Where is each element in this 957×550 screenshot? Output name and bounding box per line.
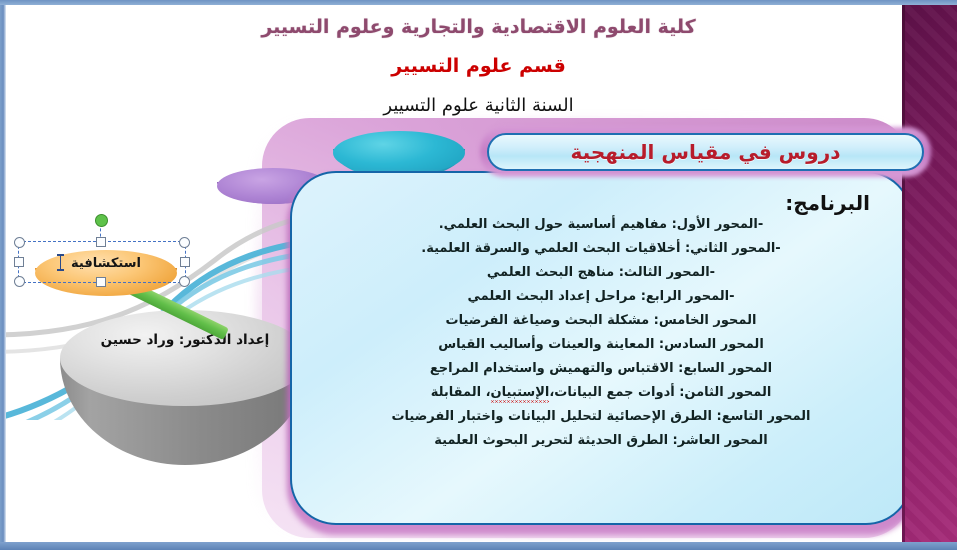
list-item-with-spellcheck: المحور الثامن: أدوات جمع البيانات،الإستب… [318,381,884,405]
list-item: المحور العاشر: الطرق الحديثة لتحرير البح… [318,429,884,453]
selection-handle-icon[interactable] [180,257,190,267]
slide-frame-left [0,0,6,550]
program-list: -المحور الأول: مفاهيم أساسية حول البحث ا… [318,217,884,453]
selection-handle-icon[interactable] [14,257,24,267]
program-title: البرنامج: [318,191,870,215]
author-label: إعداد الدكتور: وراد حسين [60,332,310,348]
grey-cylinder-top [60,310,310,406]
page-title-year: السنة الثانية علوم التسيير [0,95,957,116]
program-content-box: البرنامج: -المحور الأول: مفاهيم أساسية ح… [290,171,912,525]
selection-handle-icon[interactable] [179,276,190,287]
list-item: -المحور الرابع: مراحل إعداد البحث العلمي [318,285,884,309]
list-item: -المحور الأول: مفاهيم أساسية حول البحث ا… [318,217,884,237]
page-title-faculty: كلية العلوم الاقتصادية والتجارية وعلوم ا… [0,16,957,38]
spellcheck-underlined-word: الإستبيان [491,385,550,405]
list-item: -المحور الثاني: أخلاقيات البحث العلمي وا… [318,237,884,261]
title-banner[interactable]: دروس في مقياس المنهجية [487,133,924,171]
rotation-handle-icon[interactable] [95,214,108,227]
title-banner-frame: دروس في مقياس المنهجية [487,133,924,171]
selection-handle-icon[interactable] [96,277,106,287]
list-item-text: المحور الثامن: أدوات جمع البيانات، [549,385,771,400]
slide-frame-bottom [0,542,957,550]
powerpoint-slide: إعداد الدكتور: وراد حسين استكشافية كلية … [0,0,957,550]
grey-cylinder-shape[interactable]: إعداد الدكتور: وراد حسين [60,310,310,465]
selection-handle-icon[interactable] [14,237,25,248]
list-item: المحور التاسع: الطرق الإحصائية لتحليل ال… [318,405,884,429]
selection-handle-icon[interactable] [96,237,106,247]
page-title-department: قسم علوم التسيير [0,55,957,77]
list-item: المحور السادس: المعاينة والعينات وأساليب… [318,333,884,357]
selection-handle-icon[interactable] [179,237,190,248]
selection-handle-icon[interactable] [14,276,25,287]
list-item: المحور الخامس: مشكلة البحث وصياغة الفرضي… [318,309,884,333]
slide-frame-top [0,0,957,5]
list-item: -المحور الثالث: مناهج البحث العلمي [318,261,884,285]
right-decorative-panel [902,4,957,542]
list-item-text: ، المقابلة [431,385,491,400]
title-banner-text: دروس في مقياس المنهجية [571,140,841,164]
list-item: المحور السابع: الاقتباس والتهميش واستخدا… [318,357,884,381]
